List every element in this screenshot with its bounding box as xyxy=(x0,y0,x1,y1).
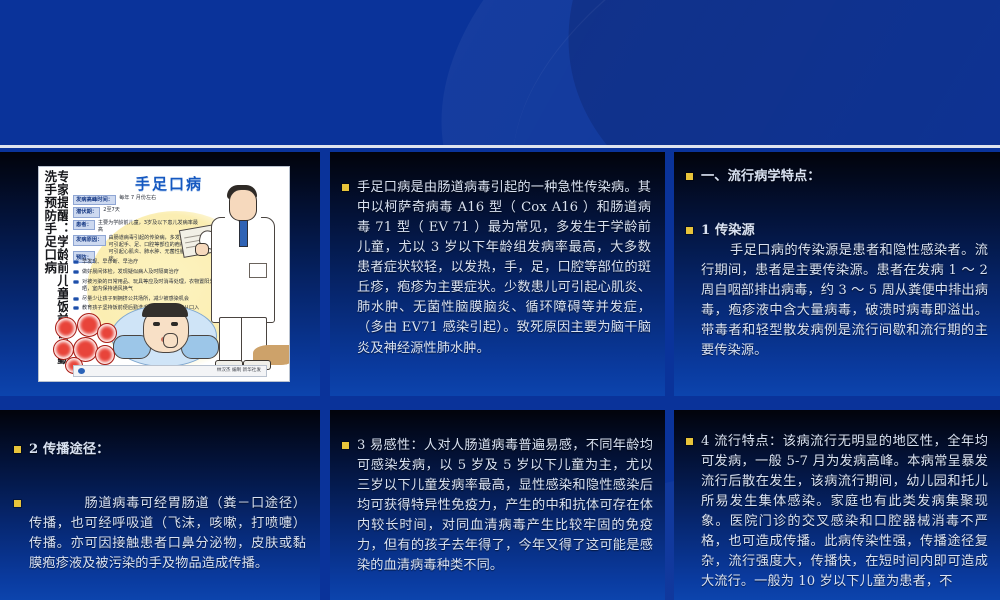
poster-credit: 林汉杰 编制 新华社发 xyxy=(217,367,261,373)
poster-info-label: 发病高峰时间： xyxy=(73,195,116,205)
poster-info-label: 潜伏期： xyxy=(73,207,100,217)
panel-intro: 手足口病是由肠道病毒引起的一种急性传染病。其中以柯萨奇病毒 A16 型（ Cox… xyxy=(330,152,665,396)
square-bullet-icon xyxy=(342,184,349,191)
header-swoosh-line xyxy=(455,0,1000,148)
baby-hand xyxy=(163,333,178,348)
doctor-pocket xyxy=(249,263,267,278)
transmission-body-block: 肠道病毒可经胃肠道（粪－口途径）传播，也可经呼吸道（飞沫，咳嗽，打喷嚏）传播。亦… xyxy=(12,494,306,574)
epidemic-features-block: 4 流行特点：该病流行无明显的地区性，全年均可发病，一般 5-7 月为发病高峰。… xyxy=(684,432,988,593)
epidemiology-heading: 一、流行病学特点： xyxy=(701,169,821,184)
baby-eye-right xyxy=(171,322,178,326)
presentation-slide: 专家提醒：学龄前儿童饭前便后勤洗手预防手足口病 手足口病 发病高峰时间： 每年 … xyxy=(0,0,1000,600)
poster-prevention-item: 早发现、早诊断、早治疗 xyxy=(73,259,225,266)
panel-susceptibility: 3 易感性：人对人肠道病毒普遍易感，不同年龄均可感染发病，以 5 岁及 5 岁以… xyxy=(330,410,665,600)
virus-cells-cluster xyxy=(53,313,117,369)
square-bullet-icon xyxy=(686,173,693,180)
doctor-necktie xyxy=(239,219,248,247)
header-swoosh-light xyxy=(376,0,1000,148)
baby-hair xyxy=(142,303,188,317)
poster-prevention-item: 对被污染的日常用品、玩具等应及时消毒处理，衣物置阳光下暴晒，室内保持通风换气 xyxy=(73,279,225,293)
square-bullet-icon xyxy=(686,227,693,234)
pill-icon xyxy=(73,306,79,310)
doctor-head xyxy=(229,189,257,221)
pill-icon xyxy=(73,297,79,301)
intro-bullet-block: 手足口病是由肠道病毒引起的一种急性传染病。其中以柯萨奇病毒 A16 型（ Cox… xyxy=(340,178,651,359)
poster-prevention-text: 做好晨间体检，发现疑似病人及时隔离治疗 xyxy=(82,269,179,276)
epidemiology-heading-block: 一、流行病学特点： xyxy=(684,167,988,187)
poster-info-row: 发病高峰时间： 每年 7 月份左右 xyxy=(73,195,223,205)
poster-prevention-text: 对被污染的日常用品、玩具等应及时消毒处理，衣物置阳光下暴晒，室内保持通风换气 xyxy=(82,279,225,293)
pill-icon xyxy=(73,260,79,264)
doctor-leg-split xyxy=(241,317,242,365)
poster-info-value: 每年 7 月份左右 xyxy=(119,195,156,202)
slide-header-band xyxy=(0,0,1000,148)
poster-prevention-text: 早发现、早诊断、早治疗 xyxy=(82,259,138,266)
poster-info-label: 发病原因： xyxy=(73,235,106,245)
poster-info-value: 2至7天 xyxy=(103,207,120,214)
pill-icon xyxy=(73,280,79,284)
poster-info-row: 潜伏期： 2至7天 xyxy=(73,207,223,217)
poster-prevention-item: 做好晨间体检，发现疑似病人及时隔离治疗 xyxy=(73,269,225,276)
panel-poster: 专家提醒：学龄前儿童饭前便后勤洗手预防手足口病 手足口病 发病高峰时间： 每年 … xyxy=(0,152,320,396)
transmission-body: 肠道病毒可经胃肠道（粪－口途径）传播，也可经呼吸道（飞沫，咳嗽，打喷嚏）传播。亦… xyxy=(29,494,306,574)
intro-paragraph: 手足口病是由肠道病毒引起的一种急性传染病。其中以柯萨奇病毒 A16 型（ Cox… xyxy=(357,180,651,356)
doctor-hand xyxy=(195,243,209,256)
infection-source-subheading: 1 传染源 xyxy=(701,223,755,238)
poster-title: 手足口病 xyxy=(135,173,203,194)
hfmd-poster: 专家提醒：学龄前儿童饭前便后勤洗手预防手足口病 手足口病 发病高峰时间： 每年 … xyxy=(38,166,290,382)
square-bullet-icon xyxy=(686,438,693,445)
panel-epidemic-features: 4 流行特点：该病流行无明显的地区性，全年均可发病，一般 5-7 月为发病高峰。… xyxy=(674,410,1000,600)
transmission-heading-block: 2 传播途径： xyxy=(12,440,306,460)
poster-prevention-item: 尽量少让孩子到拥挤公共场所，减少被感染机会 xyxy=(73,296,225,303)
pill-icon xyxy=(73,270,79,274)
transmission-heading: 2 传播途径： xyxy=(29,442,109,457)
poster-prevention-text: 尽量少让孩子到拥挤公共场所，减少被感染机会 xyxy=(82,296,189,303)
panel-transmission: 2 传播途径： 肠道病毒可经胃肠道（粪－口途径）传播，也可经呼吸道（飞沫，咳嗽，… xyxy=(0,410,320,600)
spacer xyxy=(684,197,988,221)
publisher-logo-icon xyxy=(78,368,85,374)
baby-eye-left xyxy=(153,322,160,326)
square-bullet-icon xyxy=(342,442,349,449)
panel-epidemiology: 一、流行病学特点： 1 传染源 手足口病的传染源是患者和隐性感染者。流行期间，患… xyxy=(674,152,1000,396)
spacer xyxy=(12,470,306,494)
poster-info-label: 患者： xyxy=(73,220,95,230)
infection-source-block: 1 传染源 手足口病的传染源是患者和隐性感染者。流行期间，患者是主要传染源。患者… xyxy=(684,221,988,361)
susceptibility-body: 3 易感性：人对人肠道病毒普遍易感，不同年龄均可感染发病，以 5 岁及 5 岁以… xyxy=(357,438,653,573)
infection-source-body: 手足口病的传染源是患者和隐性感染者。流行期间，患者是主要传染源。患者在发病 1 … xyxy=(701,241,988,361)
poster-footer: 林汉杰 编制 新华社发 xyxy=(73,365,267,377)
epidemic-features-body: 4 流行特点：该病流行无明显的地区性，全年均可发病，一般 5-7 月为发病高峰。… xyxy=(701,434,988,589)
content-grid: 专家提醒：学龄前儿童饭前便后勤洗手预防手足口病 手足口病 发病高峰时间： 每年 … xyxy=(0,148,1000,600)
square-bullet-icon xyxy=(14,500,21,507)
square-bullet-icon xyxy=(14,446,21,453)
susceptibility-block: 3 易感性：人对人肠道病毒普遍易感，不同年龄均可感染发病，以 5 岁及 5 岁以… xyxy=(340,436,653,576)
header-swoosh-dark xyxy=(508,0,1000,148)
